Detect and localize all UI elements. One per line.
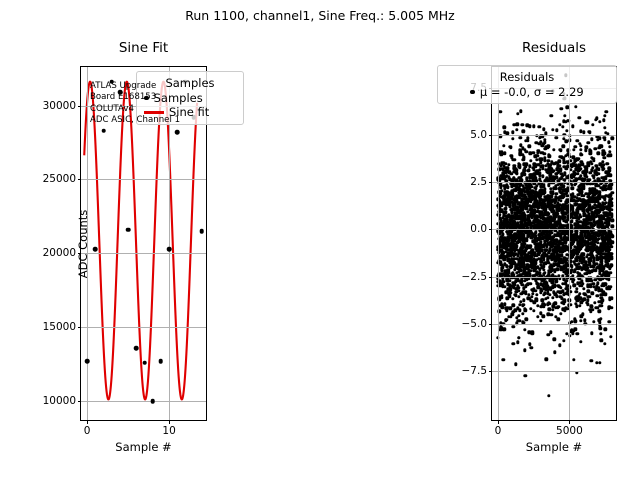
tick-x xyxy=(569,420,570,424)
residual-point xyxy=(502,144,505,147)
residual-point xyxy=(506,185,509,188)
residual-point xyxy=(599,326,602,329)
gridline-h xyxy=(81,179,206,180)
residual-point xyxy=(552,148,555,151)
residual-point xyxy=(519,109,522,112)
residual-point xyxy=(608,267,611,270)
residual-point xyxy=(609,335,612,338)
residual-point xyxy=(514,309,517,312)
tick-label-y: 20000 xyxy=(43,247,76,259)
gridline-v xyxy=(498,67,499,420)
residual-point xyxy=(581,313,584,316)
residual-point xyxy=(579,319,582,322)
residual-point xyxy=(608,287,611,290)
tick-label-y: 15000 xyxy=(43,321,76,333)
residual-point xyxy=(518,136,521,139)
gridline-h xyxy=(492,229,616,230)
residual-point xyxy=(565,129,568,132)
residual-point xyxy=(561,196,564,199)
gridline-h xyxy=(81,401,206,402)
residual-point xyxy=(600,145,603,148)
residual-point xyxy=(559,199,562,202)
residual-point xyxy=(578,284,581,287)
residual-point xyxy=(534,289,537,292)
residual-point xyxy=(549,114,552,117)
residual-point xyxy=(605,110,608,113)
gridline-h xyxy=(492,135,616,136)
residual-point xyxy=(598,361,601,364)
residual-point xyxy=(509,146,512,149)
residual-point xyxy=(592,320,595,323)
residual-point xyxy=(603,114,606,117)
residual-point xyxy=(521,312,524,315)
tick-label-y: −5.0 xyxy=(462,318,488,330)
residual-point xyxy=(510,172,513,175)
gridline-h xyxy=(492,371,616,372)
residual-point xyxy=(501,306,504,309)
gridline-v xyxy=(569,67,570,420)
residual-point xyxy=(528,144,531,147)
residual-point xyxy=(501,358,504,361)
residual-point xyxy=(571,125,574,128)
tick-x xyxy=(87,420,88,424)
axes-title-sine-fit: Sine Fit xyxy=(80,40,207,56)
figure: Run 1100, channel1, Sine Freq.: 5.005 MH… xyxy=(0,0,640,480)
residual-point xyxy=(522,130,525,133)
tick-y xyxy=(489,324,493,325)
residual-point xyxy=(578,116,581,119)
residual-point xyxy=(546,333,549,336)
sample-point xyxy=(101,128,106,133)
sample-point xyxy=(93,247,98,252)
residual-point xyxy=(584,149,587,152)
residual-point xyxy=(515,172,518,175)
residual-point xyxy=(515,290,518,293)
residual-point xyxy=(596,151,599,154)
residual-point xyxy=(550,313,553,316)
residuals-axes: −7.5−5.0−2.50.02.55.07.505000 Sample # R… xyxy=(491,66,617,421)
residual-point xyxy=(579,148,582,151)
residual-point xyxy=(551,286,554,289)
residual-point xyxy=(587,290,590,293)
residual-point xyxy=(515,128,518,131)
residual-point xyxy=(524,150,527,153)
residual-point xyxy=(610,257,613,260)
residual-point xyxy=(542,314,545,317)
legend-label-residual-stats: μ = -0.0, σ = 2.29 xyxy=(480,85,584,99)
residual-point xyxy=(545,358,548,361)
residual-point xyxy=(594,147,597,150)
residual-point xyxy=(528,165,531,168)
residual-point xyxy=(608,320,611,323)
residual-point xyxy=(596,294,599,297)
residual-point xyxy=(578,304,581,307)
gridline-h xyxy=(81,253,206,254)
residual-point xyxy=(590,162,593,165)
residual-point xyxy=(516,112,519,115)
residual-point xyxy=(557,318,560,321)
residual-point xyxy=(581,282,584,285)
residual-point xyxy=(603,126,606,129)
residual-point xyxy=(559,149,562,152)
tick-label-x: 0 xyxy=(495,425,502,437)
residual-point xyxy=(541,298,544,301)
tick-y xyxy=(78,106,82,107)
residual-point xyxy=(523,349,526,352)
residual-point xyxy=(582,194,585,197)
tick-x xyxy=(498,420,499,424)
residual-point xyxy=(592,265,595,268)
residual-point xyxy=(512,304,515,307)
residual-point xyxy=(565,140,568,143)
residual-point xyxy=(543,188,546,191)
residuals-legend: Residuals μ = -0.0, σ = 2.29 xyxy=(437,65,617,104)
residual-point xyxy=(591,123,594,126)
residual-point xyxy=(524,318,527,321)
tick-label-y: 25000 xyxy=(43,173,76,185)
residual-point xyxy=(598,120,601,123)
sample-point xyxy=(167,247,172,252)
residual-point xyxy=(607,141,610,144)
residual-point xyxy=(543,271,546,274)
residual-point xyxy=(604,328,607,331)
residual-point xyxy=(505,309,508,312)
sample-point xyxy=(142,361,147,366)
residuals-marker-icon xyxy=(470,90,475,95)
residual-point xyxy=(608,169,611,172)
residual-point xyxy=(608,145,611,148)
annotation-line-3: COLUTAv4 xyxy=(90,104,180,115)
residuals-plot-area xyxy=(492,67,616,420)
residual-point xyxy=(572,148,575,151)
residual-point xyxy=(601,266,604,269)
residual-point xyxy=(575,178,578,181)
residual-point xyxy=(523,173,526,176)
residual-point xyxy=(544,147,547,150)
residual-point xyxy=(551,128,554,131)
residual-point xyxy=(524,247,527,250)
tick-y xyxy=(78,179,82,180)
residual-point xyxy=(574,159,577,162)
residual-point xyxy=(517,336,520,339)
residual-point xyxy=(589,151,592,154)
residual-point xyxy=(511,342,514,345)
residual-point xyxy=(522,169,525,172)
sample-point xyxy=(126,227,131,232)
residual-point xyxy=(599,332,602,335)
residual-point xyxy=(611,136,614,139)
residual-point xyxy=(538,136,541,139)
sine-fit-x-axis-label: Sample # xyxy=(81,440,206,454)
tick-label-x: 10 xyxy=(162,425,175,437)
residual-point xyxy=(580,245,583,248)
sample-point xyxy=(200,229,205,234)
residual-point xyxy=(499,110,502,113)
residual-point xyxy=(610,245,613,248)
residual-point xyxy=(533,301,536,304)
residual-point xyxy=(590,332,593,335)
residual-point xyxy=(574,319,577,322)
residual-point xyxy=(602,119,605,122)
residual-point xyxy=(529,244,532,247)
residual-point xyxy=(578,292,581,295)
residual-point xyxy=(561,125,564,128)
residual-point xyxy=(530,295,533,298)
residual-point xyxy=(562,161,565,164)
residual-point xyxy=(562,339,565,342)
residual-point xyxy=(549,330,552,333)
residual-point xyxy=(539,319,542,322)
residual-point xyxy=(598,310,601,313)
tick-label-y: 30000 xyxy=(43,100,76,112)
gridline-h xyxy=(81,327,206,328)
residual-point xyxy=(520,292,523,295)
residual-point xyxy=(611,219,614,222)
residual-point xyxy=(503,125,506,128)
residual-point xyxy=(542,305,545,308)
residual-point xyxy=(555,128,558,131)
residual-point xyxy=(598,137,601,140)
residual-point xyxy=(539,193,542,196)
residual-point xyxy=(562,145,565,148)
residual-point xyxy=(575,305,578,308)
tick-label-y: 2.5 xyxy=(470,176,487,188)
sample-point xyxy=(134,346,139,351)
tick-y xyxy=(489,229,493,230)
residual-point xyxy=(603,342,606,345)
residual-point xyxy=(591,292,594,295)
residual-point xyxy=(558,277,561,280)
tick-y xyxy=(489,371,493,372)
gridline-h xyxy=(492,182,616,183)
residual-point xyxy=(507,163,510,166)
residual-point xyxy=(607,307,610,310)
axes-title-residuals: Residuals xyxy=(491,40,617,56)
residual-point xyxy=(582,186,585,189)
gridline-h xyxy=(492,324,616,325)
residual-point xyxy=(544,297,547,300)
tick-label-x: 5000 xyxy=(556,425,583,437)
residual-point xyxy=(594,118,597,121)
residual-point xyxy=(582,130,585,133)
residual-point xyxy=(579,340,582,343)
residuals-x-axis-label: Sample # xyxy=(492,440,616,454)
residual-point xyxy=(607,278,610,281)
legend-title: Residuals xyxy=(445,70,609,84)
residual-point xyxy=(553,338,556,341)
residual-point xyxy=(590,250,593,253)
residual-point xyxy=(574,105,577,108)
residual-point xyxy=(507,315,510,318)
sine-fit-y-axis-label: ADC Counts xyxy=(76,184,90,304)
figure-suptitle: Run 1100, channel1, Sine Freq.: 5.005 MH… xyxy=(0,8,640,23)
tick-label-y: 0.0 xyxy=(470,223,487,235)
residual-point xyxy=(555,136,558,139)
tick-x xyxy=(169,420,170,424)
residual-point xyxy=(514,363,517,366)
residual-point xyxy=(587,271,590,274)
residual-point xyxy=(521,158,524,161)
residual-point xyxy=(588,131,591,134)
residual-point xyxy=(529,269,532,272)
annotation-line-1: ATLAS Upgrade xyxy=(90,81,180,92)
annotation-line-4: ADC ASIC, Channel 1 xyxy=(90,115,180,126)
tick-label-y: −7.5 xyxy=(462,365,488,377)
residual-point xyxy=(587,141,590,144)
residual-point xyxy=(585,279,588,282)
residual-point xyxy=(551,308,554,311)
residual-point xyxy=(538,125,541,128)
residual-point xyxy=(523,374,526,377)
residual-point xyxy=(610,306,613,309)
residual-point xyxy=(554,279,557,282)
residual-point xyxy=(609,173,612,176)
residual-point xyxy=(516,122,519,125)
residual-point xyxy=(552,302,555,305)
residual-point xyxy=(561,282,564,285)
residual-point xyxy=(563,114,566,117)
residual-point xyxy=(604,188,607,191)
residual-point xyxy=(511,312,514,315)
residual-point xyxy=(511,297,514,300)
residual-point xyxy=(536,315,539,318)
residual-point xyxy=(582,287,585,290)
residual-point xyxy=(610,225,613,228)
residual-point xyxy=(564,120,567,123)
residual-point xyxy=(517,295,520,298)
residual-point xyxy=(586,121,589,124)
residual-point xyxy=(532,124,535,127)
residual-point xyxy=(588,295,591,298)
residual-point xyxy=(532,309,535,312)
residual-point xyxy=(556,306,559,309)
residual-point xyxy=(511,131,514,134)
residual-point xyxy=(601,207,604,210)
residual-point xyxy=(553,350,556,353)
residual-point xyxy=(600,339,603,342)
tick-y xyxy=(489,135,493,136)
residual-point xyxy=(593,301,596,304)
residual-point xyxy=(596,238,599,241)
residual-point xyxy=(590,138,593,141)
tick-y xyxy=(78,401,82,402)
residual-point xyxy=(555,192,558,195)
residual-point xyxy=(548,308,551,311)
tick-y xyxy=(489,182,493,183)
annotation-line-2: Board E168153 xyxy=(90,92,180,103)
residual-point xyxy=(564,279,567,282)
residual-point xyxy=(586,299,589,302)
atlas-annotation: ATLAS Upgrade Board E168153 COLUTAv4 ADC… xyxy=(90,81,180,126)
sine-fit-axes: 1000015000200002500030000010 ADC Counts … xyxy=(80,66,207,421)
residual-point xyxy=(522,299,525,302)
legend-entry-residual-stats: μ = -0.0, σ = 2.29 xyxy=(445,85,609,99)
residual-point xyxy=(521,123,524,126)
sample-point xyxy=(150,399,155,404)
tick-label-x: 0 xyxy=(84,425,91,437)
residual-point xyxy=(608,154,611,157)
sample-point xyxy=(85,359,90,364)
residual-point xyxy=(599,317,602,320)
residual-point xyxy=(559,107,562,110)
tick-label-y: 5.0 xyxy=(470,129,487,141)
residual-point xyxy=(589,285,592,288)
residual-point xyxy=(547,144,550,147)
gridline-h xyxy=(492,277,616,278)
residual-point xyxy=(535,293,538,296)
tick-label-y: 10000 xyxy=(43,395,76,407)
sample-point xyxy=(175,130,180,135)
residual-point xyxy=(597,167,600,170)
residual-point xyxy=(547,394,550,397)
residual-point xyxy=(572,358,575,361)
residual-point xyxy=(603,156,606,159)
residual-point xyxy=(558,344,561,347)
residual-point xyxy=(559,177,562,180)
tick-label-y: −2.5 xyxy=(462,271,488,283)
residual-point xyxy=(559,312,562,315)
residual-point xyxy=(551,296,554,299)
residual-point xyxy=(590,359,593,362)
residual-point xyxy=(575,287,578,290)
residual-point xyxy=(604,292,607,295)
tick-y xyxy=(489,277,493,278)
residual-point xyxy=(505,318,508,321)
residual-point xyxy=(523,328,526,331)
residual-point xyxy=(503,327,506,330)
residual-point xyxy=(530,346,533,349)
residual-point xyxy=(571,187,574,190)
residual-point xyxy=(511,325,514,328)
tick-y xyxy=(78,327,82,328)
residual-point xyxy=(511,137,514,140)
residual-point xyxy=(576,332,579,335)
sample-point xyxy=(159,359,164,364)
residual-point xyxy=(516,341,519,344)
